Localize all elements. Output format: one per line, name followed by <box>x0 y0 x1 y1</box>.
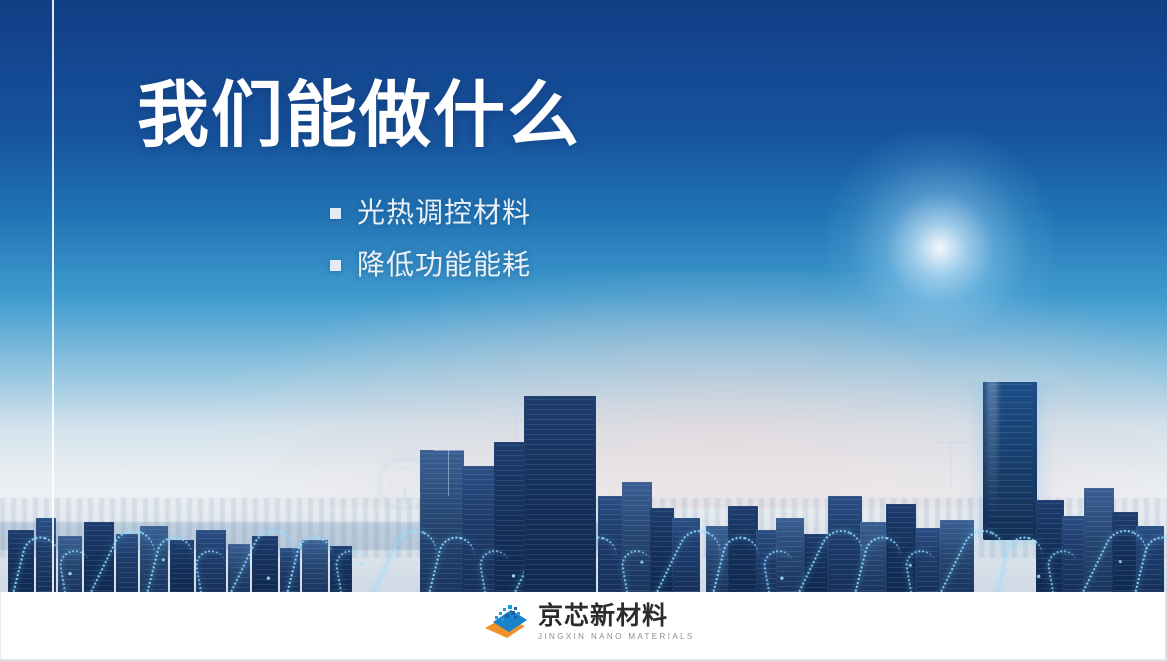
building <box>940 520 974 592</box>
building <box>1136 526 1164 592</box>
building <box>916 528 940 592</box>
building <box>706 526 730 592</box>
building <box>8 530 34 592</box>
building <box>1084 488 1114 592</box>
company-logo: 京芯新材料 JINGXIN NANO MATERIALS <box>481 602 695 642</box>
list-item-label: 光热调控材料 <box>357 192 531 234</box>
building <box>228 544 250 592</box>
city-skyline <box>0 382 1167 592</box>
building <box>804 534 828 592</box>
building <box>330 546 352 592</box>
building <box>116 534 138 592</box>
building <box>598 496 624 592</box>
landmark-tower <box>524 396 596 592</box>
building <box>280 548 300 592</box>
list-item: 光热调控材料 <box>330 192 531 234</box>
logo-text: 京芯新材料 JINGXIN NANO MATERIALS <box>538 604 695 641</box>
square-bullet-icon <box>330 208 341 219</box>
building <box>252 536 278 592</box>
building <box>196 530 226 592</box>
building <box>828 496 862 592</box>
curved-skyscraper <box>983 382 1037 540</box>
square-bullet-icon <box>330 260 341 271</box>
building <box>1112 512 1138 592</box>
building <box>886 504 916 592</box>
building <box>140 526 168 592</box>
building <box>650 508 674 592</box>
building <box>728 506 758 592</box>
building <box>84 522 114 592</box>
building <box>1062 516 1086 592</box>
bullet-list: 光热调控材料 降低功能能耗 <box>330 192 531 296</box>
presentation-slide: 我们能做什么 光热调控材料 降低功能能耗 <box>0 0 1167 661</box>
building <box>420 450 464 592</box>
building <box>756 530 778 592</box>
left-vertical-rule <box>52 0 54 592</box>
building <box>672 518 700 592</box>
construction-crane <box>448 450 449 496</box>
page-title: 我们能做什么 <box>137 78 581 156</box>
building <box>302 540 328 592</box>
building <box>462 466 496 592</box>
building <box>776 518 804 592</box>
building <box>622 482 652 592</box>
construction-crane <box>950 442 951 488</box>
building <box>170 540 194 592</box>
jingxin-logo-mark-icon <box>481 602 529 642</box>
building <box>58 536 82 592</box>
list-item-label: 降低功能能耗 <box>357 244 531 286</box>
logo-name-en: JINGXIN NANO MATERIALS <box>538 633 695 641</box>
construction-crane <box>516 396 517 442</box>
building <box>1036 500 1064 592</box>
logo-name-cn: 京芯新材料 <box>538 604 695 629</box>
list-item: 降低功能能耗 <box>330 244 531 286</box>
building <box>860 522 886 592</box>
